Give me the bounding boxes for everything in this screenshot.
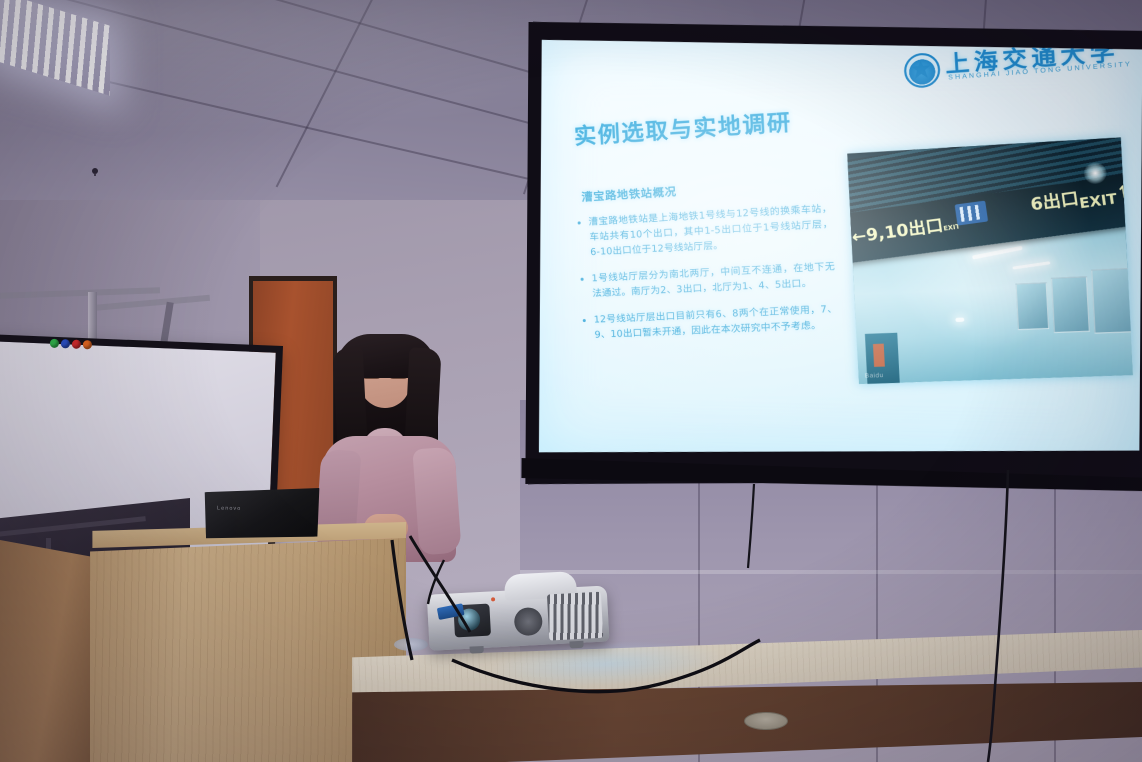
corridor-light-icon — [955, 317, 964, 322]
magnet-icon[interactable] — [61, 339, 70, 348]
laptop-brand-label: Lenovo — [217, 505, 241, 511]
presentation-slide: 上海交通大学 SHANGHAI JIAO TONG UNIVERSITY 实例选… — [535, 24, 1142, 475]
slide-bullet-list: 漕宝路地铁站是上海地铁1号线与12号线的换乘车站，车站共有10个出口，其中1-5… — [575, 201, 839, 355]
projector-vent-icon — [547, 592, 603, 641]
magnet-icon[interactable] — [72, 340, 81, 349]
slide-bullet: 漕宝路地铁站是上海地铁1号线与12号线的换乘车站，车站共有10个出口，其中1-5… — [575, 201, 834, 261]
slide-bullet: 1号线站厅层分为南北两厅，中间互不连通，在地下无法通过。南厅为2、3出口，北厅为… — [578, 259, 836, 302]
restroom-icon — [955, 201, 989, 226]
corridor-wall-panel — [1016, 282, 1050, 330]
sjtu-seal-icon — [903, 52, 941, 89]
table-sticker — [394, 638, 428, 651]
slide-title: 实例选取与实地调研 — [573, 96, 908, 151]
corridor-light-icon — [1012, 261, 1050, 270]
projection-screen[interactable]: 上海交通大学 SHANGHAI JIAO TONG UNIVERSITY 实例选… — [519, 9, 1142, 506]
sprinkler-head-icon — [92, 168, 98, 174]
wall-trim — [520, 570, 1142, 574]
projector[interactable] — [426, 567, 614, 665]
presenter-arm-right — [412, 447, 461, 556]
slide-title-wrap: 实例选取与实地调研 — [573, 96, 908, 151]
magnet-icon[interactable] — [50, 339, 59, 348]
projector-foot — [569, 641, 583, 649]
corridor-wall-panel — [1051, 276, 1090, 333]
podium-side-panel — [0, 540, 94, 762]
photo-watermark: Baidu — [865, 373, 884, 380]
corridor-wall-panel — [1091, 268, 1133, 334]
station-photo: ←9,10出口EXIT 6出口EXIT↑ Baidu — [847, 137, 1133, 384]
exit-sign-left: ←9,10出口EXIT — [850, 209, 961, 248]
cable-grommet-icon — [744, 712, 788, 730]
laptop-lid — [201, 480, 324, 548]
table-edge — [336, 682, 1142, 762]
lecture-room-photo: AC 上海交通大学 SHANGHAI JIAO TONG UNIVERSITY — [0, 0, 1142, 762]
corridor-light-icon — [972, 246, 1023, 260]
slide-bullet: 12号线站厅层出口目前只有6、8两个在正常使用，7、9、10出口暂未开通，因此在… — [580, 302, 838, 344]
projector-foot — [470, 646, 484, 654]
laptop[interactable]: Lenovo — [201, 480, 329, 552]
magnet-icon[interactable] — [83, 340, 92, 349]
